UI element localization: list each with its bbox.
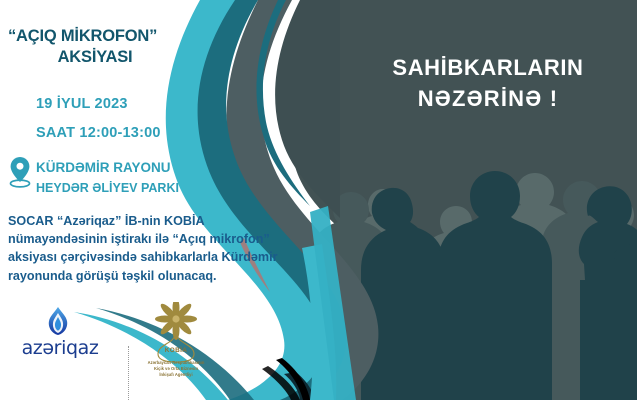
azeriqaz-logo: azəriqaz: [10, 306, 110, 368]
kobia-mark-text: KOBİA: [165, 345, 188, 354]
title-line-2: AKSİYASI: [8, 47, 204, 68]
headline-line-2: NƏZƏRİNƏ !: [352, 83, 624, 114]
event-description: SOCAR “Azəriqaz” İB-nin KOBİA nümayəndəs…: [8, 212, 298, 285]
flame-icon: [44, 306, 72, 336]
kobia-caption: Azərbaycan Respublikasının Kiçik və Orta…: [122, 360, 230, 378]
venue-line-1: KÜRDƏMİR RAYONU: [36, 158, 246, 178]
kobia-logo: KOBİA Azərbaycan Respublikasının Kiçik v…: [122, 302, 230, 396]
kobia-caption-line-3: İnkişafı Agentliyi: [122, 372, 230, 378]
left-text-column: “AÇIQ MİKROFON” AKSİYASI 19 İYUL 2023 SA…: [0, 0, 330, 400]
poster-canvas: “AÇIQ MİKROFON” AKSİYASI 19 İYUL 2023 SA…: [0, 0, 637, 400]
title-line-1: “AÇIQ MİKROFON”: [8, 26, 204, 47]
location-pin-icon: [8, 156, 32, 188]
venue-line-2: HEYDƏR ƏLİYEV PARKI: [36, 178, 246, 198]
headline-line-1: SAHİBKARLARIN: [352, 52, 624, 83]
logo-row: azəriqaz: [4, 300, 244, 396]
kobia-flower-mark: KOBİA: [122, 302, 230, 364]
headline: SAHİBKARLARIN NƏZƏRİNƏ !: [352, 52, 624, 114]
azeriqaz-wordmark: azəriqaz: [10, 337, 110, 359]
event-date: 19 İYUL 2023: [36, 96, 128, 112]
page-title: “AÇIQ MİKROFON” AKSİYASI: [8, 26, 204, 68]
event-venue: KÜRDƏMİR RAYONU HEYDƏR ƏLİYEV PARKI: [36, 158, 246, 198]
event-time: SAAT 12:00-13:00: [36, 125, 161, 141]
